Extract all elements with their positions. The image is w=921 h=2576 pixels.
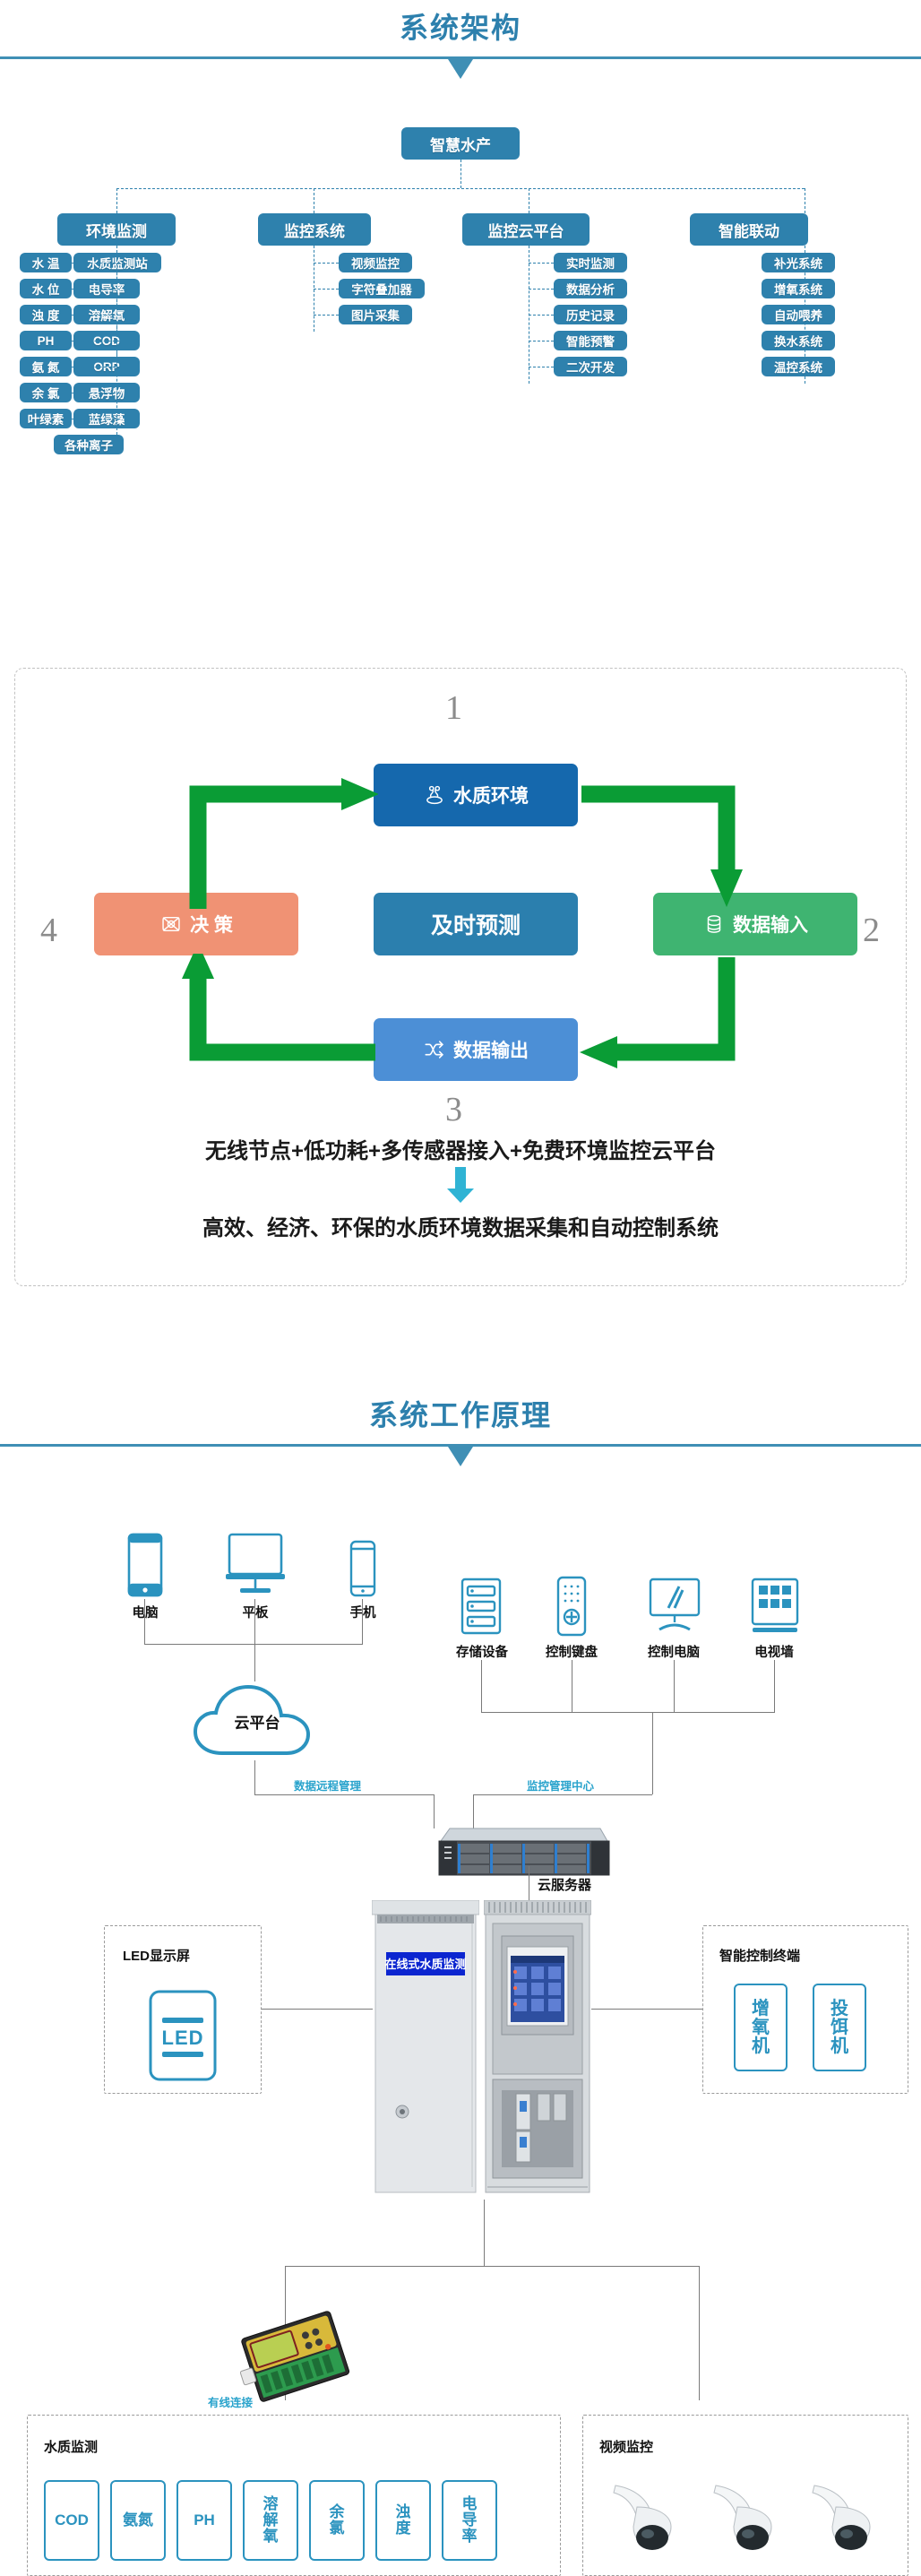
cycle-number-2: 2 <box>863 911 880 950</box>
connector <box>362 1599 363 1644</box>
connector <box>285 2266 484 2267</box>
control-cabinet-image <box>484 1900 591 2204</box>
cloud-server-label: 云服务器 <box>538 1875 627 1894</box>
tagline-top: 无线节点+低功耗+多传感器接入+免费环境监控云平台 <box>15 1133 906 1164</box>
cycle-arrow-3-4 <box>176 954 378 1072</box>
shuffle-icon <box>423 1038 446 1061</box>
arch-leaf[interactable]: 温控系统 <box>762 357 835 376</box>
connector <box>72 393 120 393</box>
chip-label: 电导率 <box>459 2496 480 2545</box>
cycle-node-label: 水质环境 <box>453 782 529 808</box>
water-chip-turbidity[interactable]: 浊度 <box>375 2480 431 2561</box>
arch-leaf[interactable]: 浊 度 <box>20 305 72 324</box>
led-display-title: LED显示屏 <box>123 1946 190 1965</box>
connector <box>481 1660 482 1712</box>
chip-label: 溶解氧 <box>260 2496 281 2545</box>
control-terminal-panel: 智能控制终端 增氧机 投饵机 <box>702 1925 908 2094</box>
cycle-number-1: 1 <box>445 688 462 728</box>
cycle-node-data-output[interactable]: 数据输出 <box>374 1018 578 1081</box>
ptz-camera-icon <box>710 2480 796 2557</box>
phone-icon <box>348 1540 378 1602</box>
connector <box>529 289 554 290</box>
connector <box>314 315 339 316</box>
led-screen-icon: LED <box>148 1989 218 2082</box>
control-pc-icon <box>647 1578 702 1639</box>
arch-leaf[interactable]: 增氧系统 <box>762 279 835 298</box>
arch-leaf[interactable]: 各种离子 <box>54 435 124 454</box>
chip-label: 投饵机 <box>828 2000 851 2056</box>
arch-leaf[interactable]: 智能预警 <box>554 331 627 350</box>
monitor-icon <box>224 1531 287 1605</box>
connector <box>591 2009 702 2010</box>
arch-column-title-cloud[interactable]: 监控云平台 <box>462 213 590 246</box>
storage-rack-icon <box>459 1578 504 1639</box>
link-label-wired: 有线连接 <box>208 2393 253 2410</box>
arch-leaf[interactable]: 字符叠加器 <box>339 279 425 298</box>
architecture-diagram: 智慧水产 环境监测 监控系统 监控云平台 智能联动 水 温 水 位 浊 度 PH… <box>0 127 921 423</box>
connector <box>774 1660 775 1712</box>
chip-label: 浊度 <box>392 2504 414 2537</box>
cycle-number-3: 3 <box>445 1090 462 1129</box>
connector <box>254 1760 255 1794</box>
arch-leaf[interactable]: 视频监控 <box>339 253 412 272</box>
connector <box>72 289 120 290</box>
connector <box>572 1660 572 1712</box>
water-chip-cod[interactable]: COD <box>44 2480 99 2561</box>
arch-leaf[interactable]: 二次开发 <box>554 357 627 376</box>
connector <box>529 263 554 264</box>
cycle-panel: 1 2 3 4 水质环境 数据输入 <box>14 668 907 1286</box>
connector <box>652 1712 653 1794</box>
terminal-label-pc: 电脑 <box>108 1603 183 1621</box>
control-terminal-chip-aerator[interactable]: 增氧机 <box>734 1984 788 2071</box>
chip-label: 氨氮 <box>123 2512 153 2528</box>
arch-leaf[interactable]: 图片采集 <box>339 305 412 324</box>
page-title-principle: 系统工作原理 <box>0 1400 921 1431</box>
device-label-pc: 控制电脑 <box>633 1642 715 1661</box>
tv-wall-icon <box>749 1578 801 1639</box>
water-chip-conductivity[interactable]: 电导率 <box>442 2480 497 2561</box>
connector <box>473 1794 652 1795</box>
connector <box>72 263 120 264</box>
arch-leaf[interactable]: 换水系统 <box>762 331 835 350</box>
connector <box>481 1712 775 1713</box>
connector <box>314 289 339 290</box>
connector <box>72 419 120 419</box>
arch-leaf[interactable]: 叶绿素 <box>20 409 72 428</box>
arch-leaf[interactable]: 水 温 <box>20 253 72 272</box>
tablet-icon <box>125 1533 165 1602</box>
connector <box>254 1599 255 1644</box>
connector <box>314 263 339 264</box>
connector <box>254 1794 434 1795</box>
cycle-arrow-4-1 <box>176 774 378 918</box>
connector <box>314 188 314 213</box>
cycle-arrow-2-3 <box>571 954 772 1072</box>
page-title-architecture: 系统架构 <box>0 13 921 44</box>
cycle-node-water-quality[interactable]: 水质环境 <box>374 764 578 826</box>
water-chip-residual-chlorine[interactable]: 余氯 <box>309 2480 365 2561</box>
connector <box>72 367 120 367</box>
connector <box>144 1599 145 1644</box>
ptz-camera-icon <box>610 2480 696 2557</box>
water-chip-ph[interactable]: PH <box>176 2480 232 2561</box>
connector <box>144 1644 363 1645</box>
tagline-down-arrow-icon <box>445 1165 476 1205</box>
section-header-principle: 系统工作原理 <box>0 1400 921 1447</box>
device-label-keyboard: 控制键盘 <box>530 1642 613 1661</box>
video-monitor-panel: 视频监控 <box>582 2415 908 2576</box>
arch-leaf[interactable]: 补光系统 <box>762 253 835 272</box>
terminal-label-tablet: 平板 <box>218 1603 293 1621</box>
arch-column-title-environment[interactable]: 环境监测 <box>57 213 176 246</box>
chip-label: 增氧机 <box>749 2000 772 2056</box>
connector <box>529 1866 529 1900</box>
control-terminal-chip-feeder[interactable]: 投饵机 <box>813 1984 866 2071</box>
connector <box>484 2200 485 2266</box>
led-chip-text: LED <box>162 2027 204 2049</box>
terminal-label-phone: 手机 <box>325 1603 400 1621</box>
chip-label: 余氯 <box>326 2504 348 2537</box>
link-label-center: 监控管理中心 <box>527 1776 594 1794</box>
device-label-tvwall: 电视墙 <box>733 1642 815 1661</box>
arch-leaf[interactable]: 余 氯 <box>20 383 72 402</box>
principle-diagram: 电脑 平板 手机 云平台 <box>0 1470 921 2502</box>
header-rule <box>0 56 921 59</box>
connector <box>699 2266 700 2400</box>
header-rule <box>0 1444 921 1447</box>
cycle-number-4: 4 <box>40 911 57 950</box>
control-keyboard-icon <box>555 1576 588 1641</box>
connector <box>529 367 554 367</box>
chip-label: COD <box>55 2512 89 2528</box>
arch-leaf[interactable]: 历史记录 <box>554 305 627 324</box>
cloud-platform-label: 云平台 <box>208 1710 306 1733</box>
arch-leaf[interactable]: 氨 氮 <box>20 357 72 376</box>
connector <box>529 188 529 213</box>
chip-label: PH <box>194 2512 215 2528</box>
cabinet-badge-text: 在线式水质监测 <box>384 1958 466 1971</box>
water-quality-icon <box>423 783 446 807</box>
water-quality-cabinet-image: 在线式水质监测 <box>372 1900 479 2204</box>
connector <box>805 188 805 213</box>
led-display-panel: LED显示屏 LED <box>104 1925 262 2094</box>
connector <box>116 188 117 213</box>
connector <box>262 2009 373 2010</box>
water-chip-do[interactable]: 溶解氧 <box>243 2480 298 2561</box>
connector <box>254 1644 255 1681</box>
video-monitor-title: 视频监控 <box>599 2437 653 2456</box>
connector <box>674 1660 675 1712</box>
tagline-bottom: 高效、经济、环保的水质环境数据采集和自动控制系统 <box>15 1210 906 1241</box>
water-monitor-title: 水质监测 <box>44 2437 98 2456</box>
arch-leaf[interactable]: PH <box>20 331 72 350</box>
control-terminal-title: 智能控制终端 <box>719 1946 800 1965</box>
arch-root-node[interactable]: 智慧水产 <box>401 127 520 160</box>
section-header-architecture: 系统架构 <box>0 13 921 59</box>
arch-column-title-monitoring[interactable]: 监控系统 <box>258 213 371 246</box>
water-monitor-panel: 水质监测 COD 氨氮 PH 溶解氧 余氯 浊度 电导率 <box>27 2415 561 2576</box>
arch-leaf[interactable]: 自动喂养 <box>762 305 835 324</box>
connector <box>529 315 554 316</box>
ptz-camera-icon <box>809 2480 895 2557</box>
cycle-arrow-1-2 <box>574 774 771 918</box>
connector <box>72 341 120 341</box>
connector <box>72 315 120 316</box>
arch-column-title-linkage[interactable]: 智能联动 <box>690 213 808 246</box>
device-label-storage: 存储设备 <box>441 1642 523 1661</box>
arch-leaf[interactable]: 数据分析 <box>554 279 627 298</box>
connector <box>529 341 554 341</box>
arch-leaf[interactable]: 实时监测 <box>554 253 627 272</box>
connector <box>460 160 461 188</box>
connector <box>484 2266 699 2267</box>
water-chip-ammonia[interactable]: 氨氮 <box>110 2480 166 2561</box>
link-label-remote: 数据远程管理 <box>294 1776 361 1794</box>
cycle-node-label: 数据输出 <box>453 1036 529 1063</box>
connector <box>116 188 805 189</box>
cycle-node-center[interactable]: 及时预测 <box>374 893 578 955</box>
arch-leaf[interactable]: 水 位 <box>20 279 72 298</box>
